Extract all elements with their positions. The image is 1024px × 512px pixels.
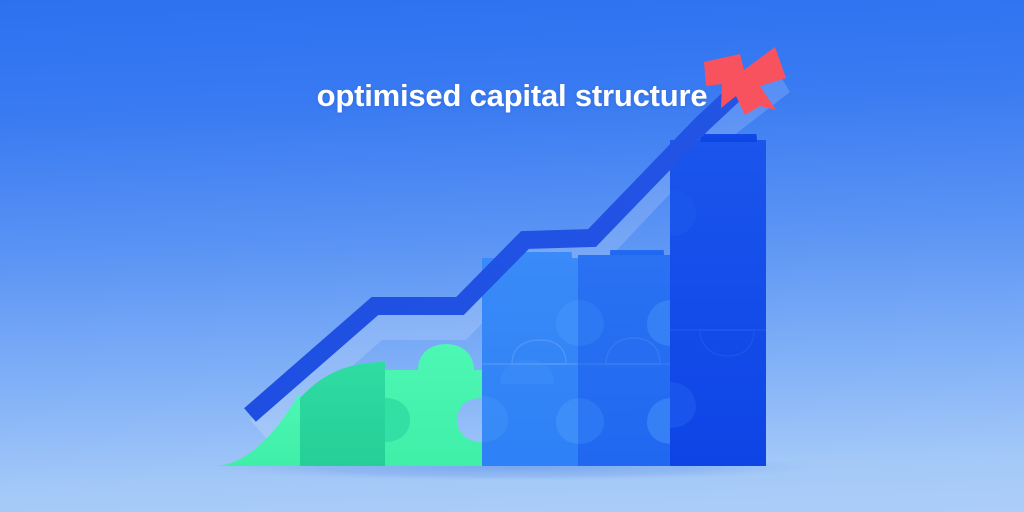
bar-blue-dark [670,110,766,466]
illustration-canvas: optimised capital structure [0,0,1024,512]
bar-blue-mid [578,228,672,466]
capital-structure-illustration [0,0,1024,512]
bar-green-mint [385,344,482,466]
